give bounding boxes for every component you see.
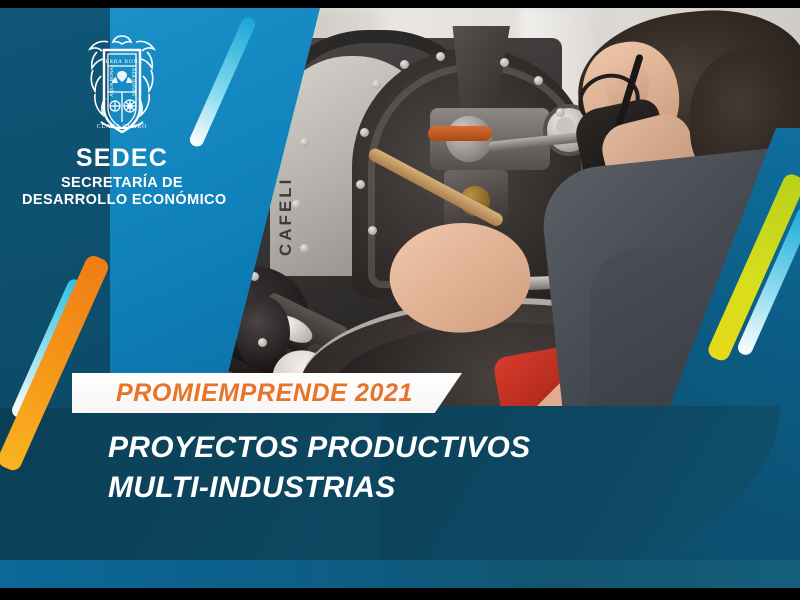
slide-content-band: CAFELI	[0, 8, 800, 588]
slide-canvas: CAFELI	[0, 0, 800, 600]
logo-line-2: DESARROLLO ECONÓMICO	[22, 193, 222, 208]
sedec-logo: TERRA BONA AQUA BONA AER BONUS CLARA CLA…	[22, 30, 222, 210]
slide-title: PROYECTOS PRODUCTIVOS MULTI-INDUSTRIAS	[108, 428, 588, 508]
logo-acronym: SEDEC	[22, 146, 222, 171]
slide-title-line-2: MULTI-INDUSTRIAS	[108, 468, 588, 508]
svg-text:TERRA BONA: TERRA BONA	[101, 59, 142, 65]
bottom-accent-strip	[0, 560, 800, 588]
coat-of-arms-icon: TERRA BONA AQUA BONA AER BONUS CLARA CLA…	[75, 30, 169, 140]
program-banner: PROMIEMPRENDE 2021	[72, 373, 462, 413]
program-banner-label: PROMIEMPRENDE 2021	[116, 379, 413, 408]
logo-line-1: SECRETARÍA DE	[22, 176, 222, 191]
slide-title-line-1: PROYECTOS PRODUCTIVOS	[108, 428, 588, 468]
svg-text:CLARA CLARO: CLARA CLARO	[97, 124, 148, 130]
